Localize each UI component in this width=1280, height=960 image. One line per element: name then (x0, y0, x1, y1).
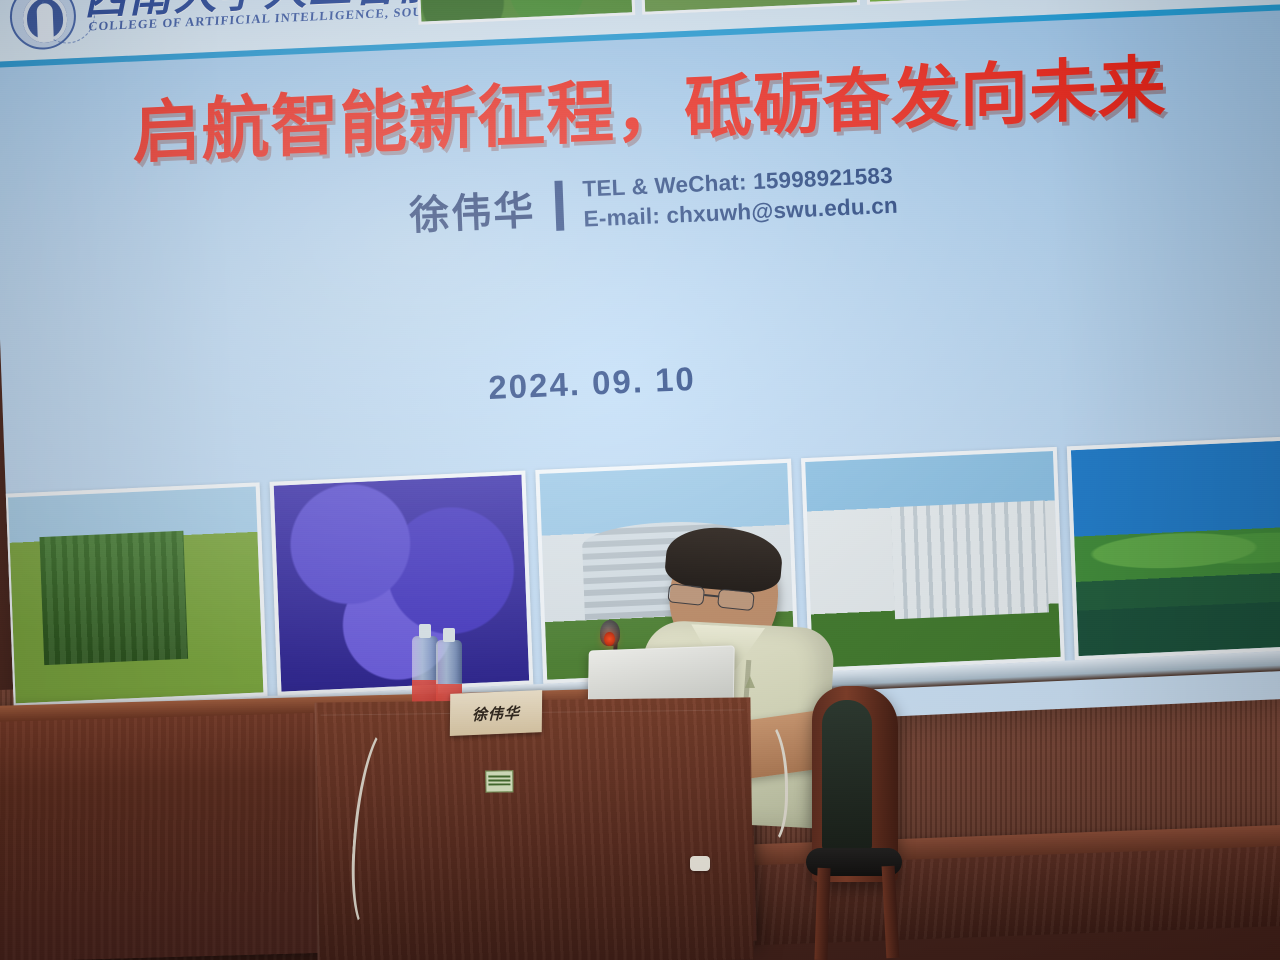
campus-lake-photo (1067, 435, 1280, 660)
purple-jacaranda-trees-photo (270, 471, 534, 696)
slide-surface: 西南大学人工智能学院 COLLEGE OF ARTIFICIAL INTELLI… (0, 0, 1280, 755)
desk-asset-sticker (485, 770, 513, 792)
microphone-indicator-light (604, 632, 615, 646)
campus-flowers-photo (863, 0, 1083, 5)
speaker-name-card: 徐伟华 (450, 690, 542, 736)
chair-cushion (822, 700, 872, 850)
university-seal-icon (9, 0, 77, 51)
cable-connector (690, 856, 710, 871)
campus-monument-photo (639, 0, 859, 15)
projection-screen: 西南大学人工智能学院 COLLEGE OF ARTIFICIAL INTELLI… (0, 0, 1280, 755)
speaker-contact: TEL & WeChat: 15998921583 E-mail: chxuwh… (582, 161, 898, 236)
ivy-covered-building-photo (4, 482, 268, 707)
eyeglasses-right-lens (717, 588, 755, 611)
name-card-text: 徐伟华 (472, 701, 520, 724)
slide-date: 2024. 09. 10 (2, 338, 1182, 428)
byline-divider (554, 181, 564, 231)
white-academic-hall-photo (801, 447, 1065, 672)
campus-greenery-photo (415, 0, 635, 25)
speaker-name: 徐伟华 (408, 178, 536, 242)
eyeglasses-bridge (704, 594, 719, 598)
photo-scene: 西南大学人工智能学院 COLLEGE OF ARTIFICIAL INTELLI… (0, 0, 1280, 960)
eyeglasses-left-lens (667, 583, 705, 606)
